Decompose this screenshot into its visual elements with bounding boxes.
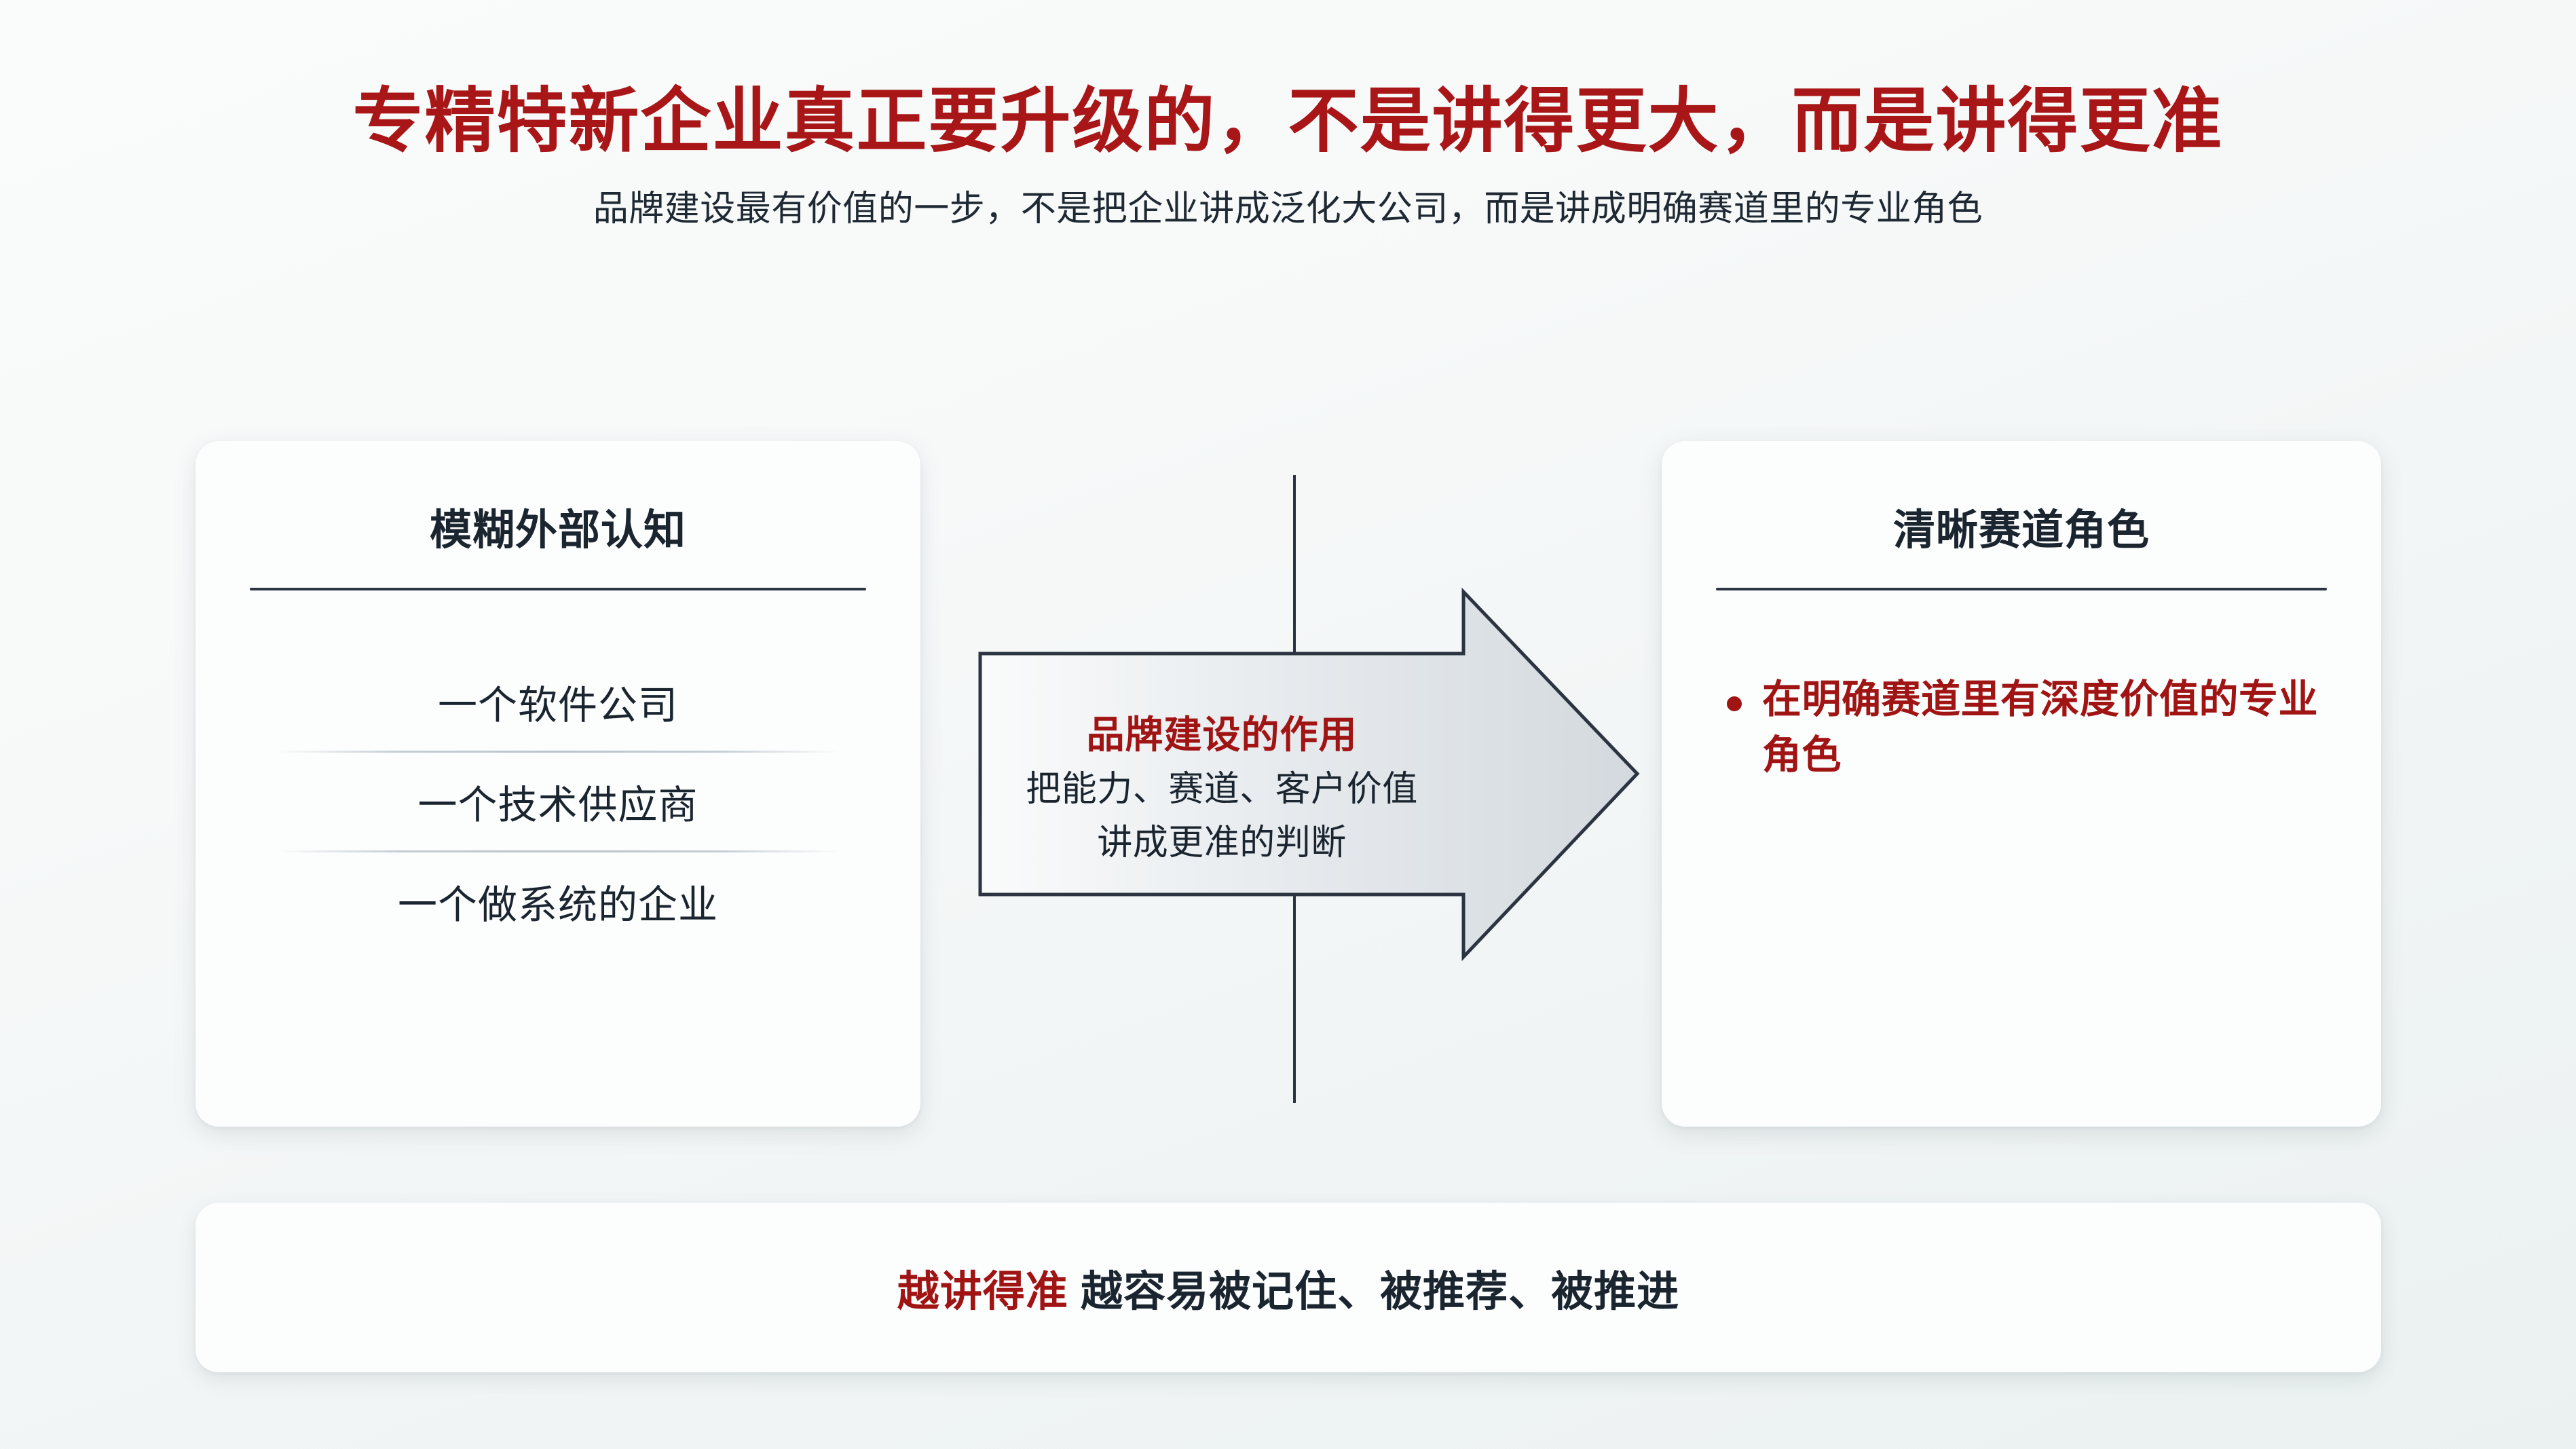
page-title: 专精特新企业真正要升级的，不是讲得更大，而是讲得更准 [0, 80, 2576, 164]
list-item: 在明确赛道里有深度价值的专业角色 [1727, 672, 2334, 784]
right-arrow-icon [920, 441, 1662, 1127]
list-item-label: 在明确赛道里有深度价值的专业角色 [1762, 672, 2334, 784]
fuzzy-perception-card-title: 模糊外部认知 [195, 495, 920, 557]
bullet-icon [1727, 696, 1742, 711]
page-subtitle: 品牌建设最有价值的一步，不是把企业讲成泛化大公司，而是讲成明确赛道里的专业角色 [0, 187, 2576, 233]
list-item: 一个做系统的企业 [195, 852, 920, 950]
list-item: 一个技术供应商 [195, 753, 920, 850]
summary-rest: 越容易被记住、被推荐、被推进 [1068, 1268, 1679, 1315]
slide-root: 专精特新企业真正要升级的，不是讲得更大，而是讲得更准 品牌建设最有价值的一步，不… [0, 0, 2576, 1449]
slide-header: 专精特新企业真正要升级的，不是讲得更大，而是讲得更准 品牌建设最有价值的一步，不… [0, 80, 2576, 232]
summary-banner: 越讲得准 越容易被记住、被推荐、被推进 [195, 1203, 2381, 1372]
list-item: 一个软件公司 [195, 653, 920, 751]
card-title-rule [250, 588, 866, 590]
fuzzy-perception-card: 模糊外部认知 一个软件公司 一个技术供应商 一个做系统的企业 [195, 441, 920, 1127]
clear-role-card-title: 清晰赛道角色 [1662, 495, 2381, 557]
fuzzy-perception-list: 一个软件公司 一个技术供应商 一个做系统的企业 [195, 653, 920, 950]
transformation-arrow-zone: 品牌建设的作用 把能力、赛道、客户价值 讲成更准的判断 [920, 441, 1662, 1127]
summary-emphasis: 越讲得准 [897, 1268, 1068, 1315]
summary-banner-text: 越讲得准 越容易被记住、被推荐、被推进 [897, 1257, 1679, 1318]
clear-role-card: 清晰赛道角色 在明确赛道里有深度价值的专业角色 [1662, 441, 2381, 1127]
clear-role-list: 在明确赛道里有深度价值的专业角色 [1662, 672, 2381, 784]
card-title-rule [1716, 588, 2327, 590]
